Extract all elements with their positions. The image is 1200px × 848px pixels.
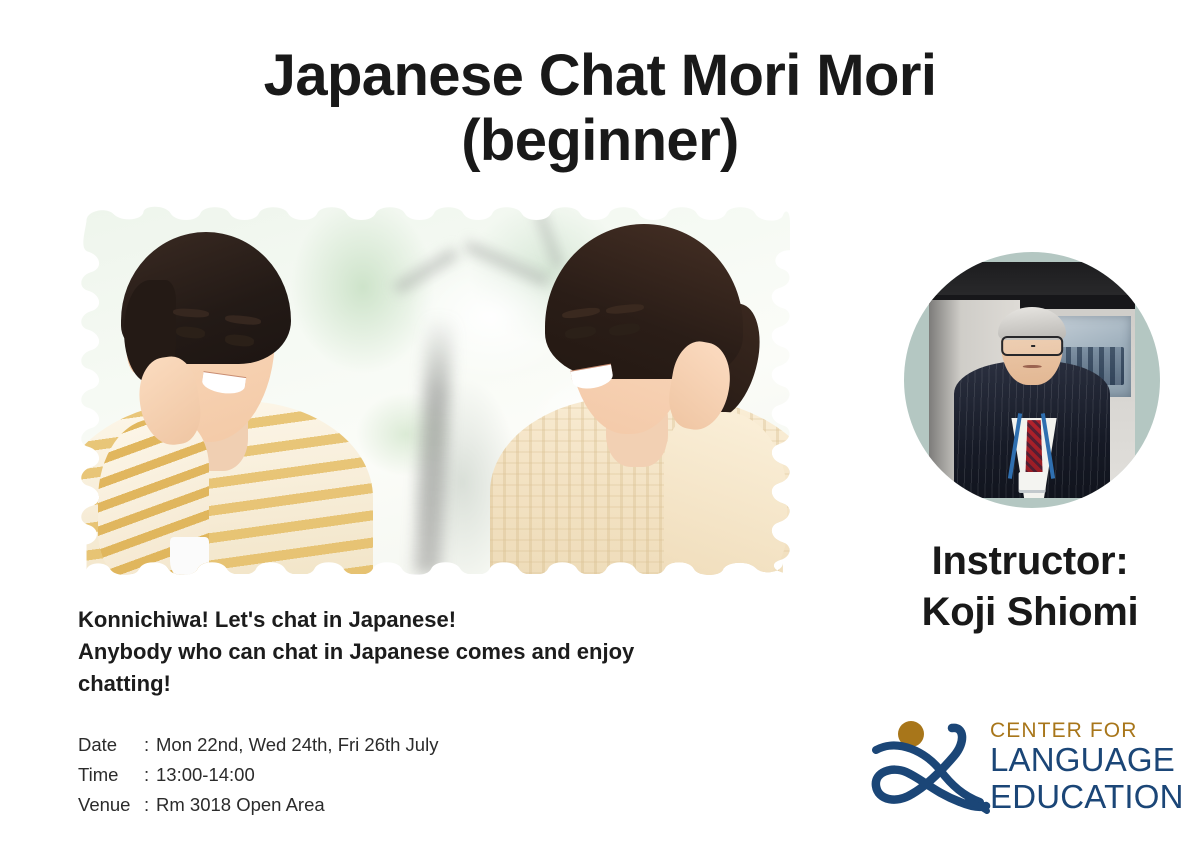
detail-label-date: Date — [78, 730, 144, 760]
detail-row-time: Time : 13:00-14:00 — [78, 760, 438, 790]
id-badge — [1019, 472, 1046, 493]
detail-sep-date: : — [144, 730, 156, 760]
page-title-line-2: (beginner) — [0, 109, 1200, 174]
detail-row-date: Date : Mon 22nd, Wed 24th, Fri 26th July — [78, 730, 438, 760]
logo-line-center-for: CENTER FOR — [990, 720, 1190, 742]
logo-line-education: EDUCATION — [990, 779, 1190, 815]
instructor-portrait — [904, 252, 1160, 508]
lead-copy: Konnichiwa! Let's chat in Japanese! Anyb… — [78, 604, 808, 700]
two-people-chatting-photo — [78, 206, 790, 574]
detail-row-venue: Venue : Rm 3018 Open Area — [78, 790, 438, 820]
cle-swirl-logo-mark — [868, 712, 994, 824]
photo-person-right — [462, 206, 804, 574]
detail-value-time: 13:00-14:00 — [156, 760, 255, 790]
instructor-caption: Instructor: Koji Shiomi — [860, 536, 1200, 638]
lead-copy-line-1: Konnichiwa! Let's chat in Japanese! — [78, 604, 808, 636]
event-details: Date : Mon 22nd, Wed 24th, Fri 26th July… — [78, 730, 438, 820]
page-title-line-1: Japanese Chat Mori Mori — [0, 44, 1200, 109]
photo-person-left — [78, 206, 406, 574]
lead-copy-line-2: Anybody who can chat in Japanese comes a… — [78, 636, 808, 668]
page-title: Japanese Chat Mori Mori (beginner) — [0, 44, 1200, 174]
detail-sep-time: : — [144, 760, 156, 790]
detail-label-time: Time — [78, 760, 144, 790]
detail-value-date: Mon 22nd, Wed 24th, Fri 26th July — [156, 730, 438, 760]
detail-label-venue: Venue — [78, 790, 144, 820]
lead-copy-line-3: chatting! — [78, 668, 808, 700]
detail-value-venue: Rm 3018 Open Area — [156, 790, 325, 820]
glasses-icon — [1001, 336, 1063, 355]
center-for-language-education-logo: CENTER FOR LANGUAGE EDUCATION — [868, 708, 1188, 828]
instructor-label: Instructor: — [860, 536, 1200, 587]
detail-sep-venue: : — [144, 790, 156, 820]
instructor-name: Koji Shiomi — [860, 587, 1200, 638]
logo-line-language: LANGUAGE — [990, 742, 1190, 778]
